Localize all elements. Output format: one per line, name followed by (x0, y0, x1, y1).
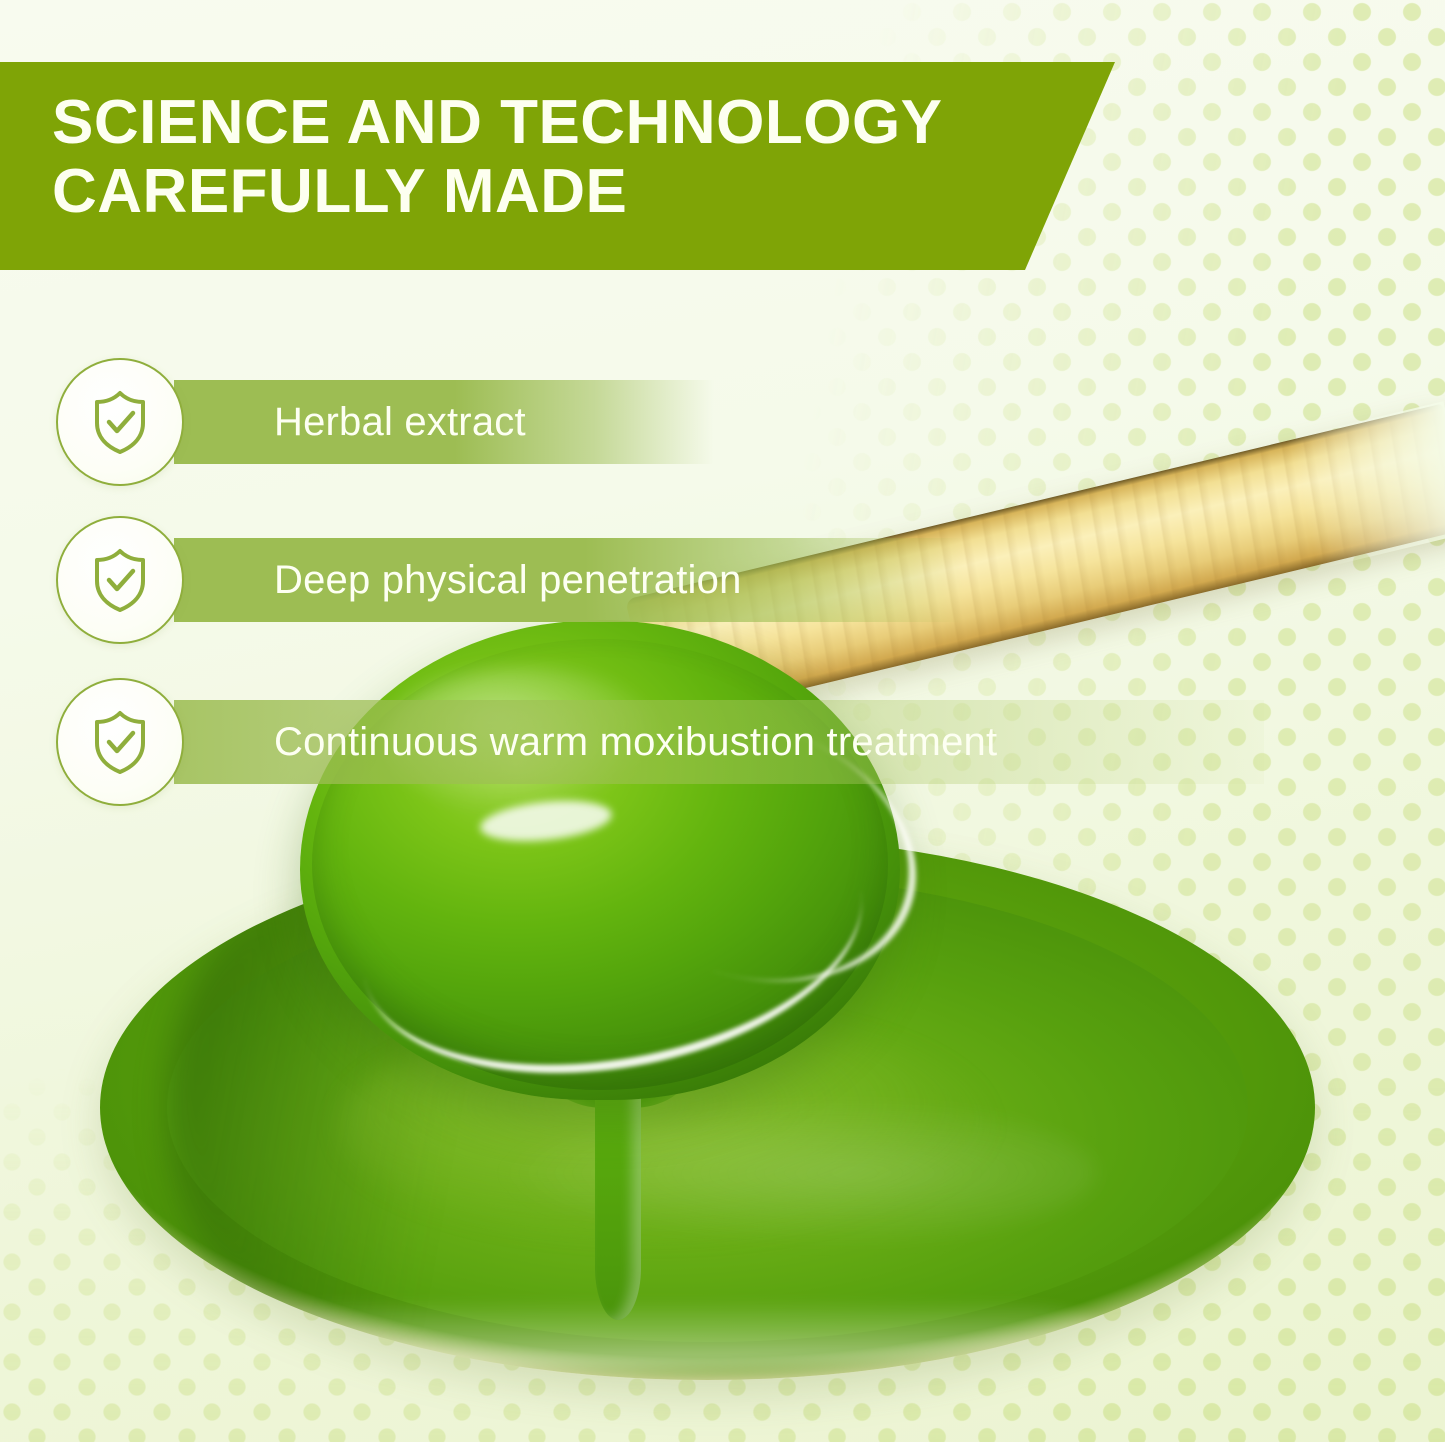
shield-check-icon (56, 358, 184, 486)
feature-label-bar: Deep physical penetration (174, 538, 964, 622)
feature-label-text: Deep physical penetration (174, 558, 742, 603)
spoon-bowl-with-paste (300, 620, 900, 1100)
feature-label-text: Continuous warm moxibustion treatment (174, 720, 997, 765)
paste-surface-sheen (491, 1098, 1097, 1248)
feature-label-text: Herbal extract (174, 400, 526, 445)
shield-check-icon (56, 678, 184, 806)
shield-check-icon (56, 516, 184, 644)
title-line-2: CAREFULLY MADE (52, 157, 1062, 226)
feature-label-bar: Herbal extract (174, 380, 714, 464)
product-feature-infographic: SCIENCE AND TECHNOLOGY CAREFULLY MADE He… (0, 0, 1445, 1442)
feature-label-bar: Continuous warm moxibustion treatment (174, 700, 1264, 784)
page-title: SCIENCE AND TECHNOLOGY CAREFULLY MADE (52, 88, 1062, 227)
title-line-1: SCIENCE AND TECHNOLOGY (52, 88, 1062, 157)
